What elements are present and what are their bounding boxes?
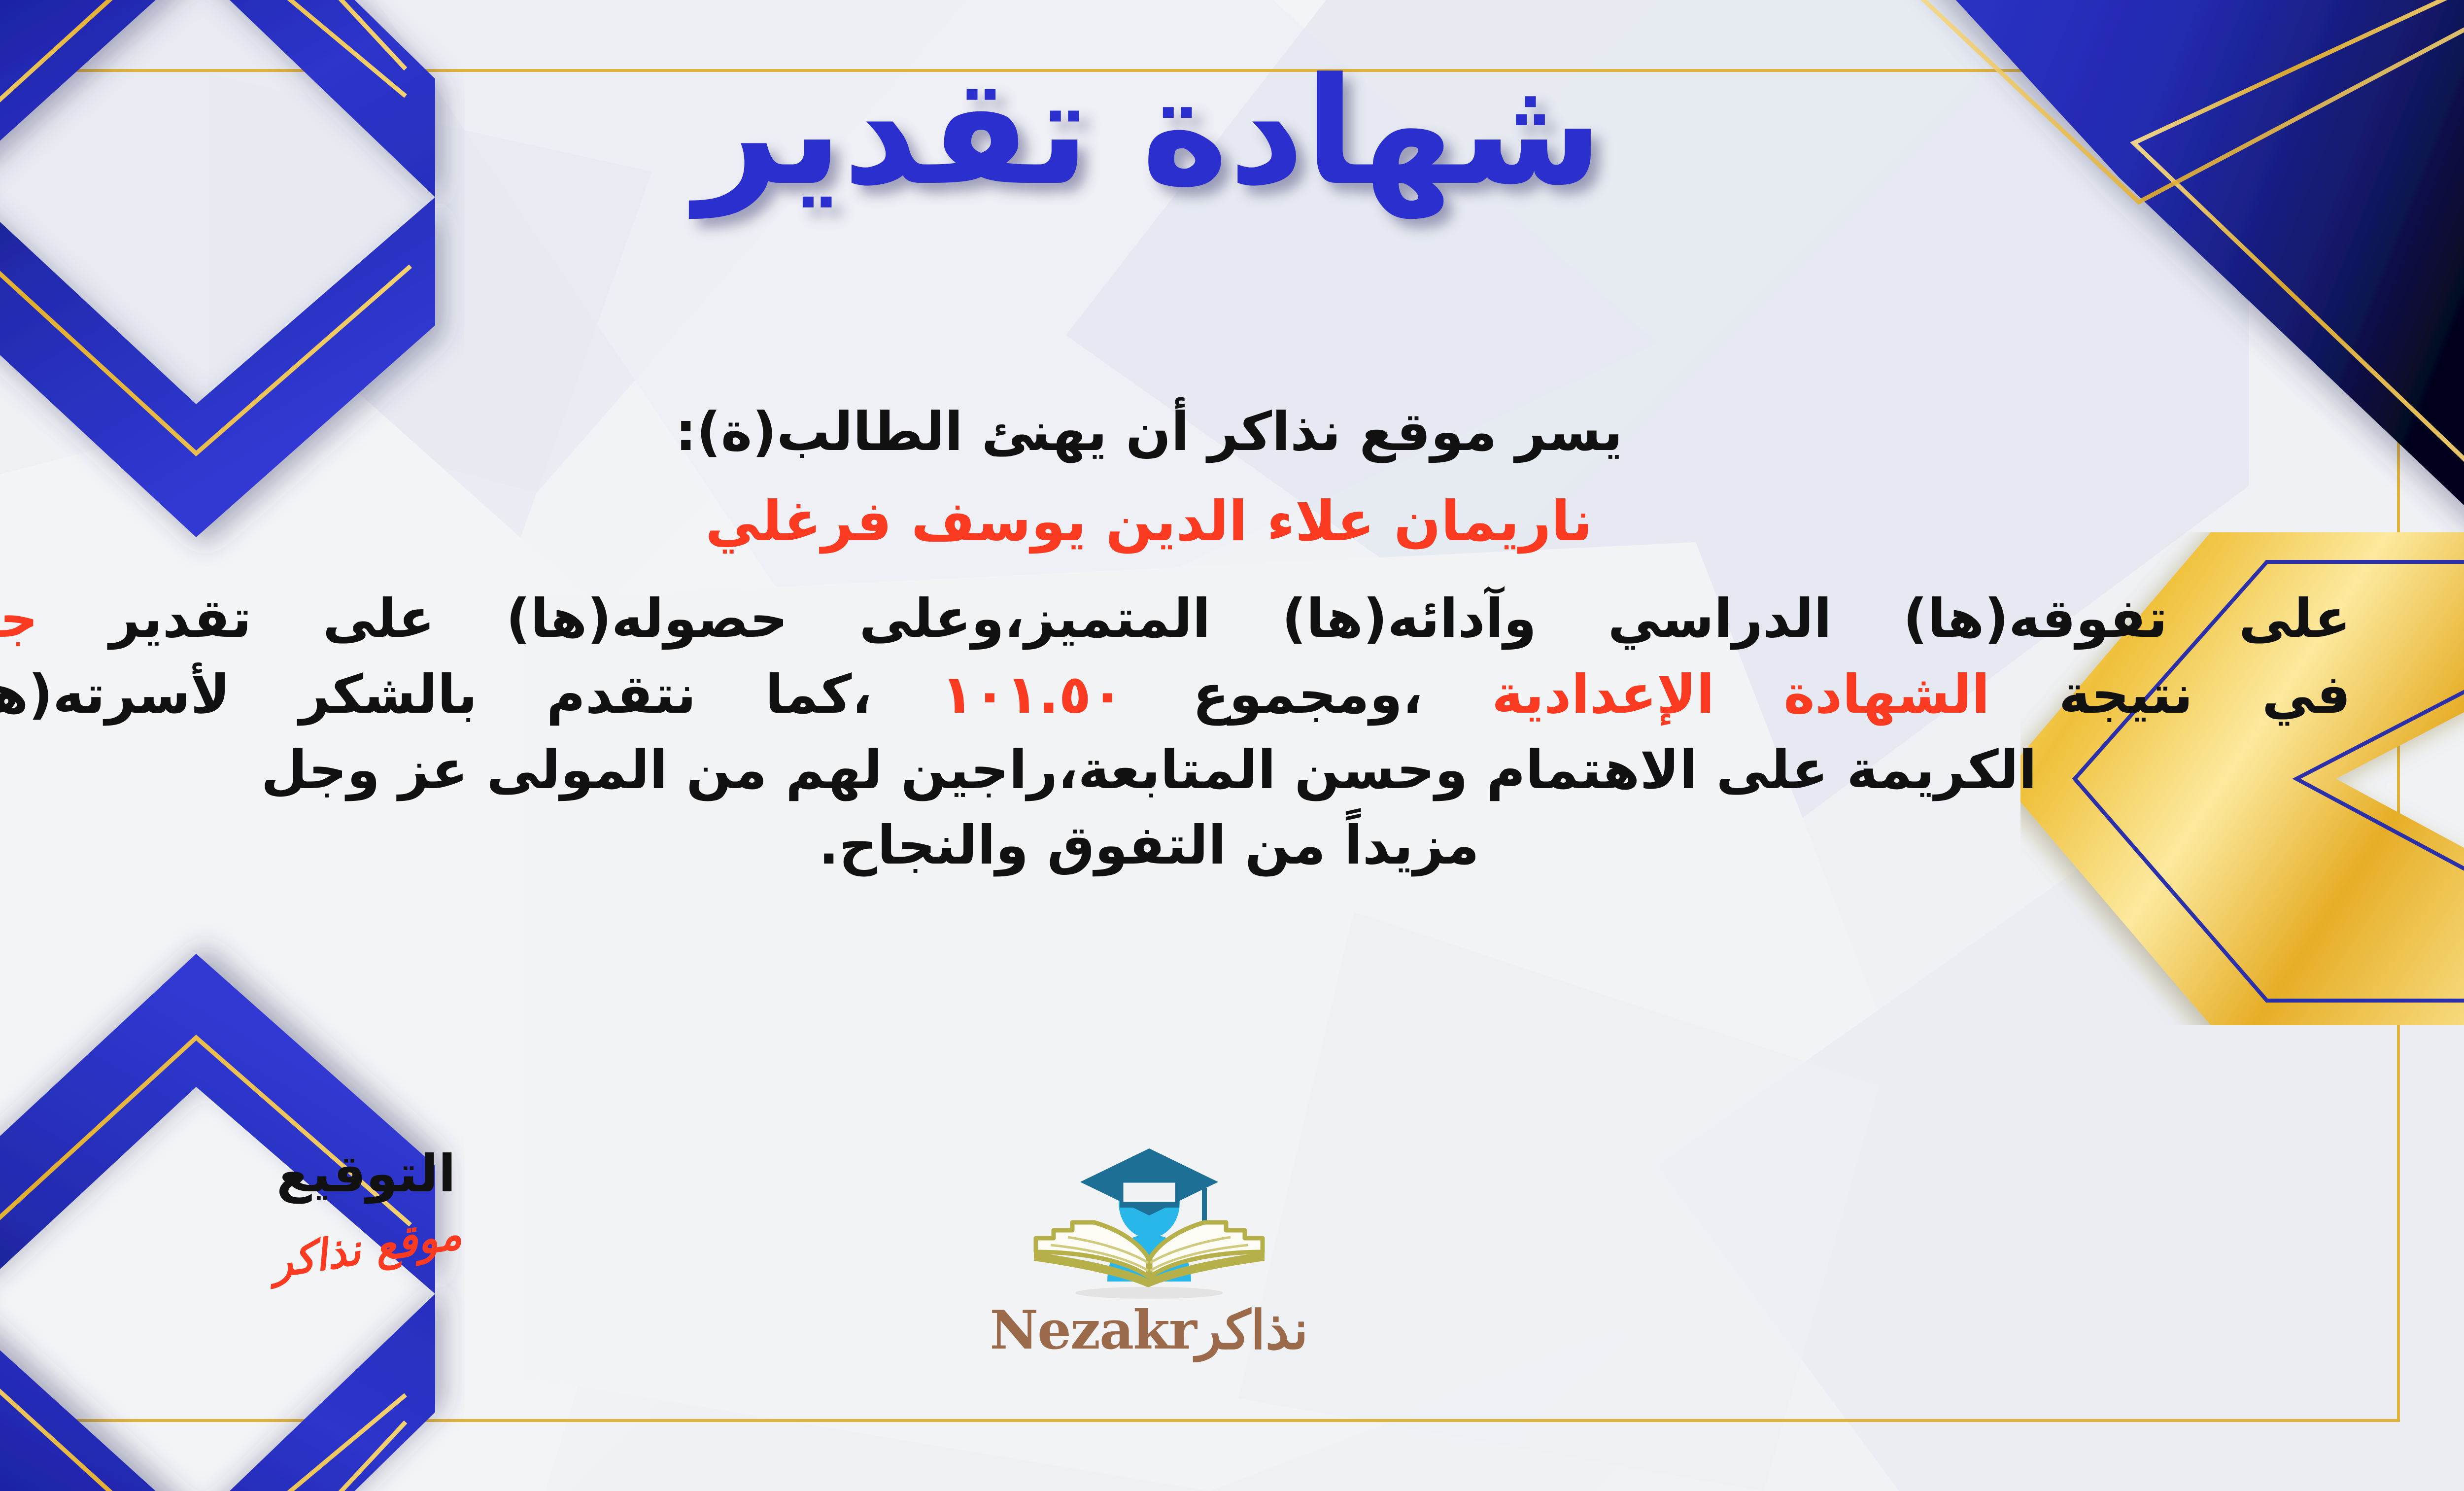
achievement-line: على تفوقه(ها) الدراسي وآدائه(ها) المتميز… [0, 581, 2351, 657]
family-thanks-line: الكريمة على الاهتمام وحسن المتابعة،راجين… [0, 732, 2351, 808]
signature-label: التوقيع [208, 1144, 524, 1204]
brand-name-latin: Nezakr [990, 1299, 1196, 1361]
grade-value: جيد [0, 588, 38, 650]
brand-logo: نذاكرNezakr [962, 1129, 1336, 1361]
certificate-body: يسر موقع نذاكر أن يهنئ الطالب(ة): ناريما… [0, 394, 2351, 884]
intro-line: يسر موقع نذاكر أن يهنئ الطالب(ة): [0, 394, 2351, 470]
signature-mark: موقع نذاكر [268, 1209, 465, 1288]
brand-name-arabic: نذاكر [1196, 1299, 1308, 1361]
exam-name: الشهادة الإعدادية [1492, 664, 1990, 726]
exam-prefix-text: في نتيجة [2059, 664, 2351, 726]
thanks-text: ،كما نتقدم بالشكر لأسرته(ها) [0, 664, 872, 726]
student-name: ناريمان علاء الدين يوسف فرغلي [0, 489, 2351, 554]
signature-block: التوقيع موقع نذاكر [208, 1144, 524, 1273]
total-label-text: ،ومجموع [1193, 664, 1423, 726]
graduate-book-logo-icon [1021, 1129, 1277, 1306]
achievement-text: على تفوقه(ها) الدراسي وآدائه(ها) المتميز… [109, 588, 2351, 650]
brand-logo-text: نذاكرNezakr [962, 1299, 1336, 1361]
closing-line: مزيداً من التفوق والنجاح. [0, 808, 2351, 883]
exam-result-line: في نتيجة الشهادة الإعدادية ،ومجموع ١٠١.٥… [0, 657, 2351, 732]
certificate-page: شهادة تقدير يسر موقع نذاكر أن يهنئ الطال… [0, 0, 2464, 1491]
total-score-value: ١٠١.٥٠ [941, 664, 1124, 726]
page-title: شهادة تقدير [0, 39, 2464, 224]
